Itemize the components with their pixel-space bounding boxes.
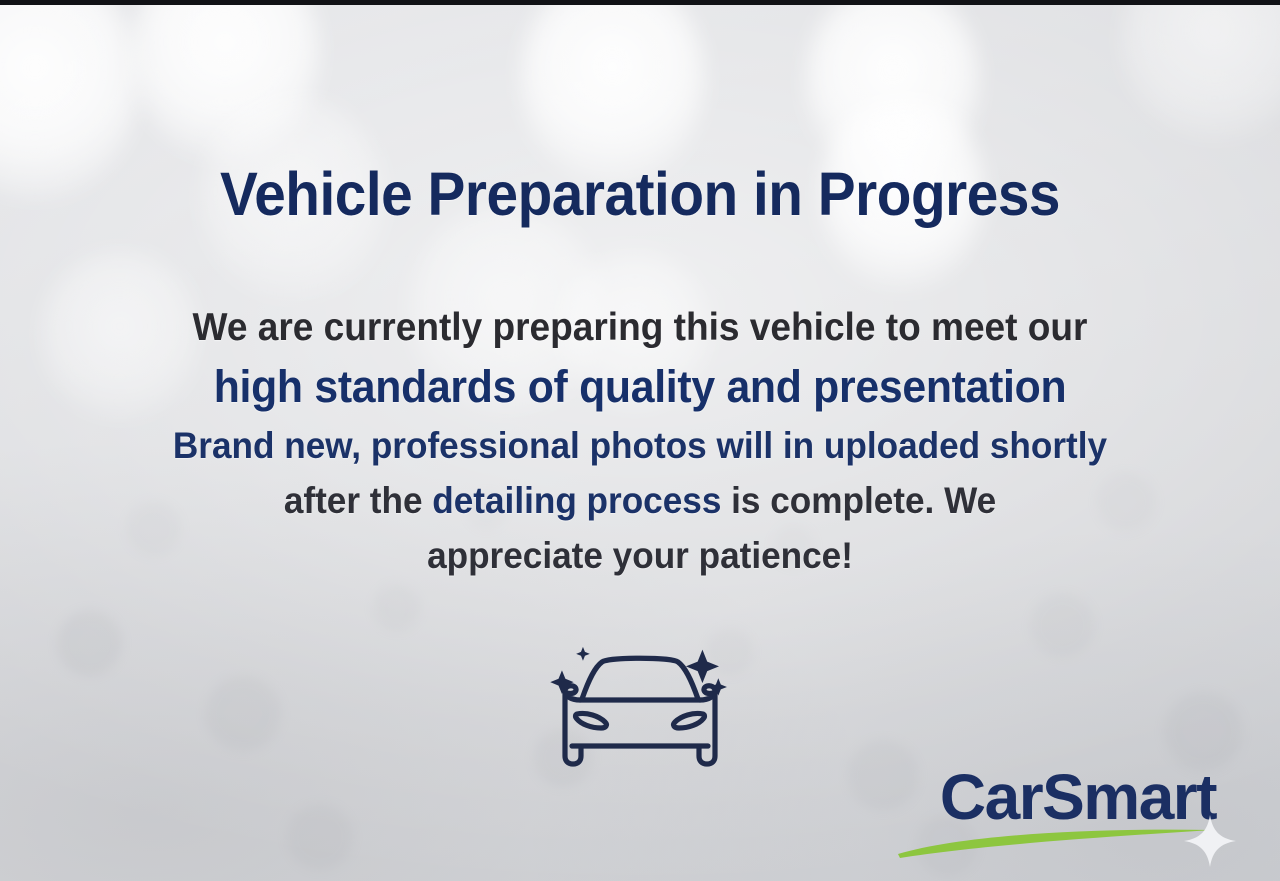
sparkling-car-front-icon (535, 636, 745, 776)
logo-wordmark: CarSmart (940, 761, 1216, 833)
message-line-2: high standards of quality and presentati… (32, 356, 1248, 418)
logo-green-swoosh (896, 827, 1216, 861)
message-line-4: after the detailing process is complete.… (32, 473, 1248, 528)
page-title: Vehicle Preparation in Progress (45, 164, 1235, 225)
vehicle-preparation-notice-screen: Vehicle Preparation in Progress We are c… (0, 0, 1280, 881)
carsmart-logo: CarSmart (890, 761, 1220, 873)
message-block: We are currently preparing this vehicle … (0, 300, 1280, 583)
message-line-5: appreciate your patience! (32, 528, 1248, 583)
notice-content: Vehicle Preparation in Progress We are c… (0, 0, 1280, 881)
message-line-4-part-a: after the (284, 480, 432, 521)
message-line-1: We are currently preparing this vehicle … (32, 300, 1248, 356)
message-line-4-part-c: is complete. We (721, 480, 996, 521)
message-line-3: Brand new, professional photos will in u… (32, 418, 1248, 473)
message-line-4-part-b: detailing process (432, 480, 721, 521)
four-point-sparkle-icon (1182, 813, 1238, 869)
